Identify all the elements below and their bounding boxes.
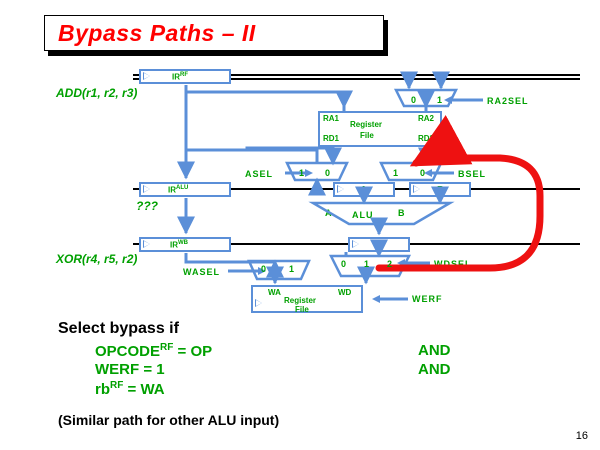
register-label-ir-rf: IRRF bbox=[172, 72, 188, 82]
control-label-ra2sel: RA2SEL bbox=[487, 96, 529, 106]
port-label-rd2: RD2 bbox=[418, 134, 434, 143]
clock-triangle-inner-a bbox=[338, 186, 344, 192]
clock-triangle-inner-regfile-bottom bbox=[256, 300, 262, 306]
body-footnote: (Similar path for other ALU input) bbox=[58, 412, 279, 428]
mux-option-asel-1: 1 bbox=[299, 168, 304, 178]
register-label-ir-wb: IRWB bbox=[170, 240, 188, 250]
mux-option-bsel-0: 0 bbox=[420, 168, 425, 178]
clock-triangle-inner-b bbox=[414, 186, 420, 192]
register-label-ir-alu: IRALU bbox=[168, 185, 188, 195]
page-title: Bypass Paths – II bbox=[58, 20, 256, 47]
condition-2: WERF = 1 bbox=[95, 361, 165, 378]
slide-root: Bypass Paths – II IRRF IRALU IRWB A B Y … bbox=[0, 0, 600, 450]
mux-option-bsel-1: 1 bbox=[393, 168, 398, 178]
port-label-ra1: RA1 bbox=[323, 114, 339, 123]
port-label-wd: WD bbox=[338, 288, 351, 297]
control-label-asel: ASEL bbox=[245, 169, 273, 179]
register-label-y: Y bbox=[375, 240, 382, 251]
bypass-path-arrow bbox=[416, 150, 440, 163]
register-file-top-title-2: File bbox=[360, 131, 374, 140]
register-label-b: B bbox=[437, 185, 444, 196]
mux-option-wasel-0: 0 bbox=[261, 264, 266, 274]
mux-option-wdsel-0: 0 bbox=[341, 259, 346, 269]
condition-1-conjunction: AND bbox=[418, 342, 451, 359]
register-file-bottom-title-2: File bbox=[295, 305, 309, 314]
mux-option-wdsel-2: 2 bbox=[387, 259, 392, 269]
clock-triangle-inner-y bbox=[353, 241, 359, 247]
condition-3: rbRF = WA bbox=[95, 380, 165, 398]
port-label-wa: WA bbox=[268, 288, 281, 297]
instruction-annotation-unknown: ??? bbox=[136, 199, 158, 213]
condition-2-conjunction: AND bbox=[418, 361, 451, 378]
instruction-annotation-add: ADD(r1, r2, r3) bbox=[56, 86, 137, 100]
mux-option-asel-0: 0 bbox=[325, 168, 330, 178]
clock-triangle-inner-ir-alu bbox=[144, 186, 150, 192]
alu-label: ALU bbox=[352, 210, 374, 220]
control-label-wasel: WASEL bbox=[183, 267, 220, 277]
port-label-rd1: RD1 bbox=[323, 134, 339, 143]
mux-option-ra2sel-0: 0 bbox=[411, 95, 416, 105]
clock-triangle-inner-ir-wb bbox=[144, 241, 150, 247]
diagram-wires-overlay bbox=[0, 0, 600, 450]
control-label-werf: WERF bbox=[412, 294, 443, 304]
mux-option-wasel-1: 1 bbox=[289, 264, 294, 274]
page-number: 16 bbox=[576, 430, 588, 442]
condition-1: OPCODERF = OP bbox=[95, 342, 212, 360]
alu-input-b-label: B bbox=[398, 208, 405, 218]
register-file-bottom-title-1: Register bbox=[284, 296, 316, 305]
mux-option-wdsel-1: 1 bbox=[364, 259, 369, 269]
port-label-ra2: RA2 bbox=[418, 114, 434, 123]
body-heading: Select bypass if bbox=[58, 320, 179, 338]
control-label-bsel: BSEL bbox=[458, 169, 486, 179]
clock-triangle-inner-ir-rf bbox=[144, 73, 150, 79]
mux-option-ra2sel-1: 1 bbox=[437, 95, 442, 105]
instruction-annotation-xor: XOR(r4, r5, r2) bbox=[56, 252, 137, 266]
control-label-wdsel: WDSEL bbox=[434, 259, 472, 269]
register-file-top-title-1: Register bbox=[350, 120, 382, 129]
alu-input-a-label: A bbox=[325, 208, 332, 218]
register-label-a: A bbox=[360, 185, 367, 196]
